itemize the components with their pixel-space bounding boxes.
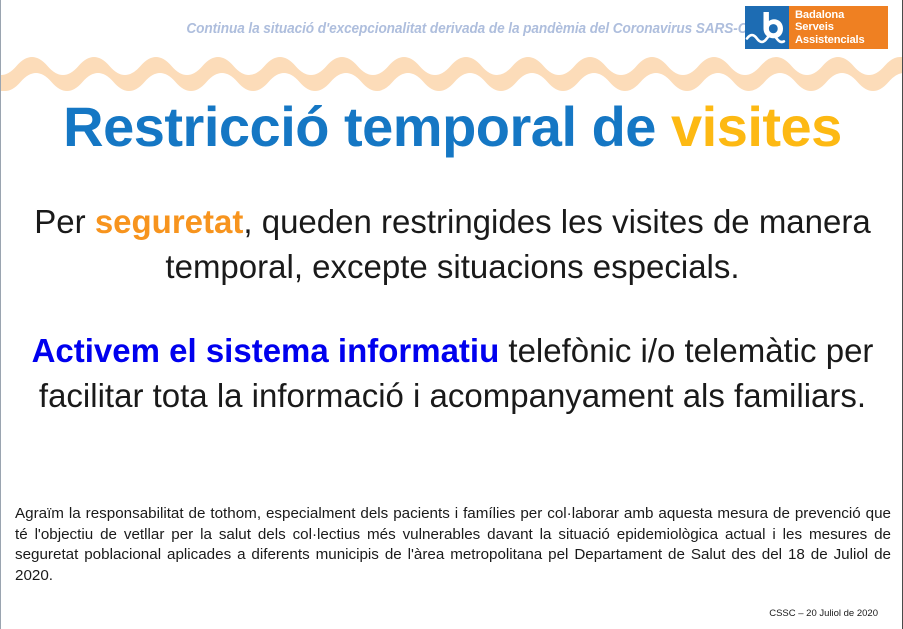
badalona-b-wave-logo-icon [745,6,789,49]
header-subtitle: Continua la situació d'excepcionalitat d… [186,21,741,37]
statement-2-highlight: Activem el sistema informatiu [32,332,500,369]
page-title: Restricció temporal de visites [1,96,903,158]
logo-wordmark: Badalona Serveis Assistencials [789,6,888,49]
badalona-serveis-assistencials-logo: Badalona Serveis Assistencials [745,6,888,49]
statement-information-system: Activem el sistema informatiu telefònic … [1,328,903,418]
logo-line-serveis: Serveis [795,21,888,33]
statement-visit-restriction: Per seguretat, queden restringides les v… [1,199,903,289]
logo-line-badalona: Badalona [795,9,888,21]
fineprint-paragraph: Agraïm la responsabilitat de tothom, esp… [15,504,891,586]
statement-1-highlight: seguretat [95,203,244,240]
zigzag-wave-divider-icon [1,53,903,93]
header-strip: Continua la situació d'excepcionalitat d… [1,0,903,57]
statement-1-rest: , queden restringides les visites de man… [165,203,870,285]
poster-page: Continua la situació d'excepcionalitat d… [0,0,903,629]
statement-1-lead: Per [34,203,95,240]
page-title-part-highlight: visites [671,95,842,158]
document-credit: CSSC – 20 Juliol de 2020 [769,608,878,619]
logo-line-assistencials: Assistencials [795,34,888,46]
page-title-part-primary: Restricció temporal de [63,95,671,158]
